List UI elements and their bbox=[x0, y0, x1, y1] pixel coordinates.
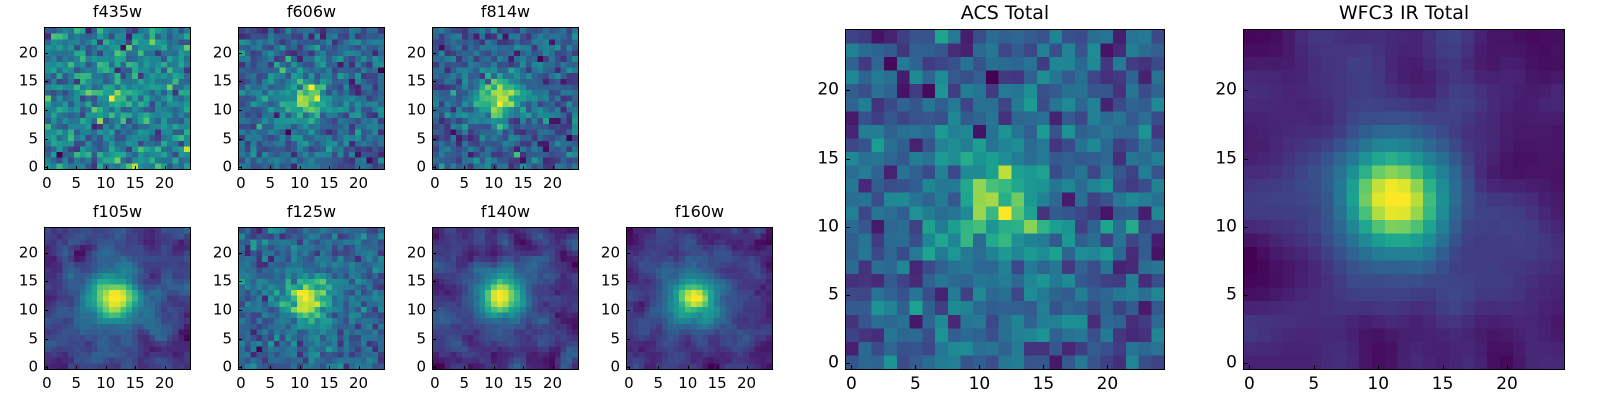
xtick-label-wfc3-ir-total-0: 0 bbox=[1244, 376, 1255, 393]
xtick-label-wfc3-ir-total-3: 15 bbox=[1432, 376, 1454, 393]
xtick-label-wfc3-ir-total-1: 5 bbox=[1308, 376, 1319, 393]
xtick-label-wfc3-ir-total-4: 20 bbox=[1496, 376, 1518, 393]
xtick-wfc3-ir-total-0 bbox=[1249, 365, 1250, 370]
ytick-wfc3-ir-total-4 bbox=[1243, 90, 1248, 91]
xtick-wfc3-ir-total-1 bbox=[1314, 365, 1315, 370]
xtick-wfc3-ir-total-4 bbox=[1507, 365, 1508, 370]
ytick-label-wfc3-ir-total-2: 10 bbox=[1195, 218, 1237, 235]
ytick-label-wfc3-ir-total-3: 15 bbox=[1195, 150, 1237, 167]
ytick-wfc3-ir-total-3 bbox=[1243, 159, 1248, 160]
xtick-label-wfc3-ir-total-2: 10 bbox=[1367, 376, 1389, 393]
ytick-wfc3-ir-total-1 bbox=[1243, 295, 1248, 296]
panel-wfc3-ir-total: WFC3 IR Total0510152005101520 bbox=[0, 0, 1600, 400]
ytick-wfc3-ir-total-0 bbox=[1243, 363, 1248, 364]
figure-canvas: f435w0510152005101520f606w05101520051015… bbox=[0, 0, 1600, 400]
ytick-label-wfc3-ir-total-4: 20 bbox=[1195, 82, 1237, 99]
panel-title-wfc3-ir-total: WFC3 IR Total bbox=[1243, 4, 1565, 23]
heatmap-image-wfc3-ir-total bbox=[1244, 30, 1564, 369]
ytick-label-wfc3-ir-total-0: 0 bbox=[1195, 355, 1237, 372]
ytick-label-wfc3-ir-total-1: 5 bbox=[1195, 286, 1237, 303]
heatmap-axes-wfc3-ir-total bbox=[1243, 29, 1565, 370]
ytick-wfc3-ir-total-2 bbox=[1243, 227, 1248, 228]
xtick-wfc3-ir-total-2 bbox=[1378, 365, 1379, 370]
xtick-wfc3-ir-total-3 bbox=[1443, 365, 1444, 370]
